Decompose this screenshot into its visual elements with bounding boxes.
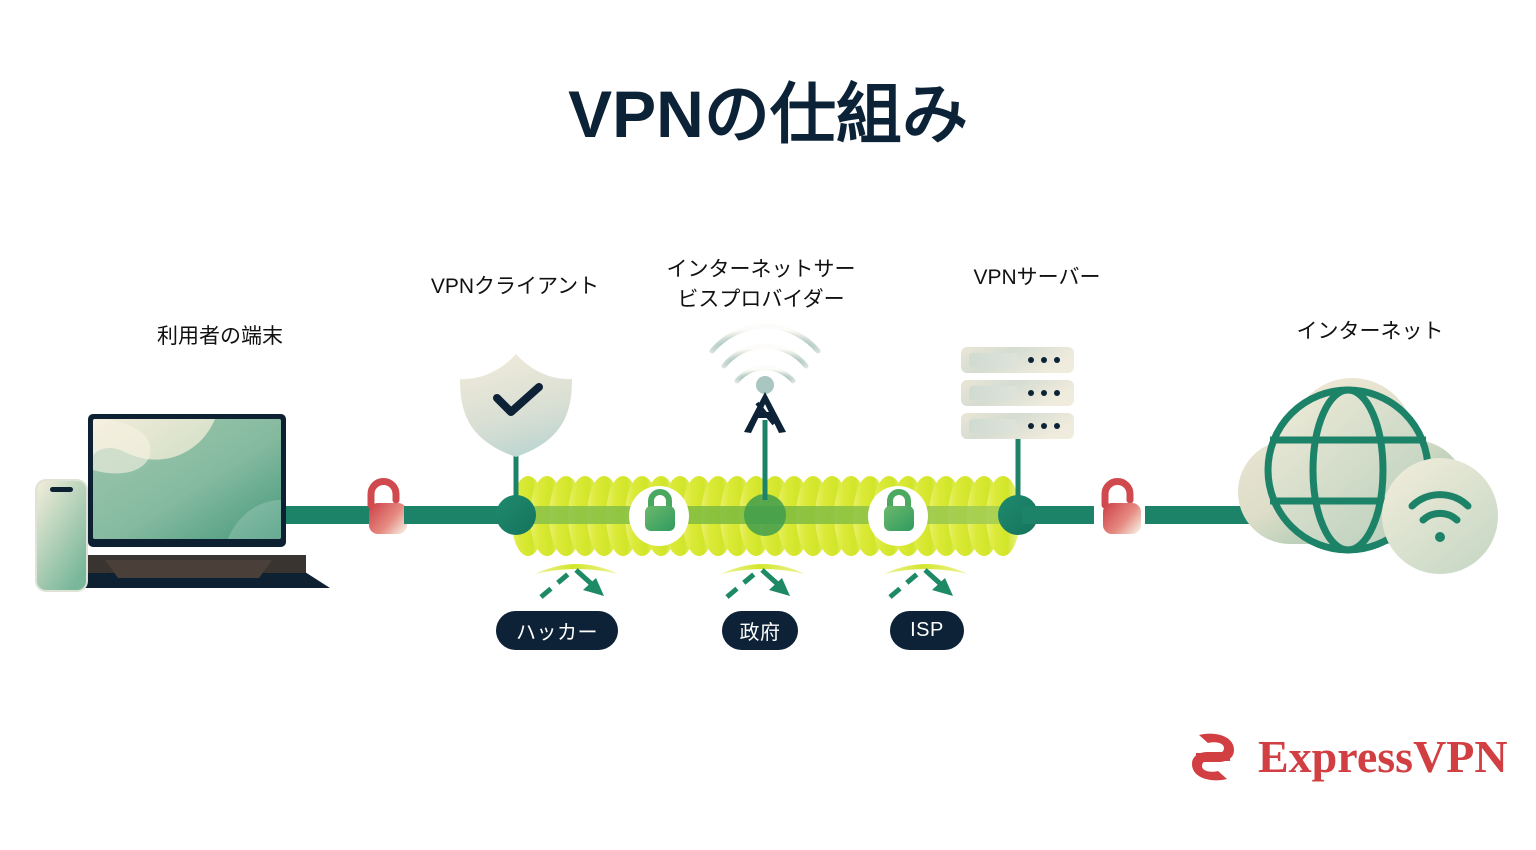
threat-pill-gov: 政府 xyxy=(722,611,798,650)
label-vpn-client: VPNクライアント xyxy=(400,272,630,302)
label-internet: インターネット xyxy=(1220,317,1520,347)
server-rack-icon xyxy=(961,347,1074,500)
laptop-phone-icon xyxy=(35,414,376,592)
arrow-in-hacker xyxy=(541,570,573,597)
shield-check-icon xyxy=(460,354,572,500)
brand-name: ExpressVPN xyxy=(1258,734,1508,780)
label-isp: インターネットサー ビスプロバイダー xyxy=(632,255,890,316)
threat-pill-hacker-label: ハッカー xyxy=(516,616,598,645)
cell-tower-icon xyxy=(712,326,818,500)
arrow-in-isp xyxy=(890,570,922,597)
label-user-device: 利用者の端末 xyxy=(60,322,380,352)
node-ball-vpn-client xyxy=(496,495,536,535)
infographic-canvas: VPNの仕組み xyxy=(0,0,1536,850)
pipe-right-inner xyxy=(1022,506,1094,524)
open-lock-right-icon xyxy=(1103,482,1141,535)
lock-2-icon xyxy=(868,486,928,546)
threat-deflectors xyxy=(535,564,968,597)
arrow-in-gov xyxy=(727,570,759,597)
pipe-right-outer xyxy=(1145,506,1255,524)
node-ball-isp xyxy=(744,494,786,536)
threat-pill-gov-label: 政府 xyxy=(740,616,781,645)
threat-pill-isp-label: ISP xyxy=(910,619,944,642)
open-lock-left-icon xyxy=(369,482,407,535)
brand-logo: ExpressVPN xyxy=(1182,726,1508,788)
label-vpn-server: VPNサーバー xyxy=(912,263,1162,293)
lock-1-icon xyxy=(629,486,689,546)
vpn-diagram-illustration xyxy=(0,0,1536,850)
threat-pill-isp: ISP xyxy=(890,611,964,650)
pipe-left-segment xyxy=(404,506,512,524)
expressvpn-logo-icon xyxy=(1182,726,1244,788)
threat-pill-hacker: ハッカー xyxy=(496,611,618,650)
globe-wifi-cloud-icon xyxy=(1238,378,1498,574)
